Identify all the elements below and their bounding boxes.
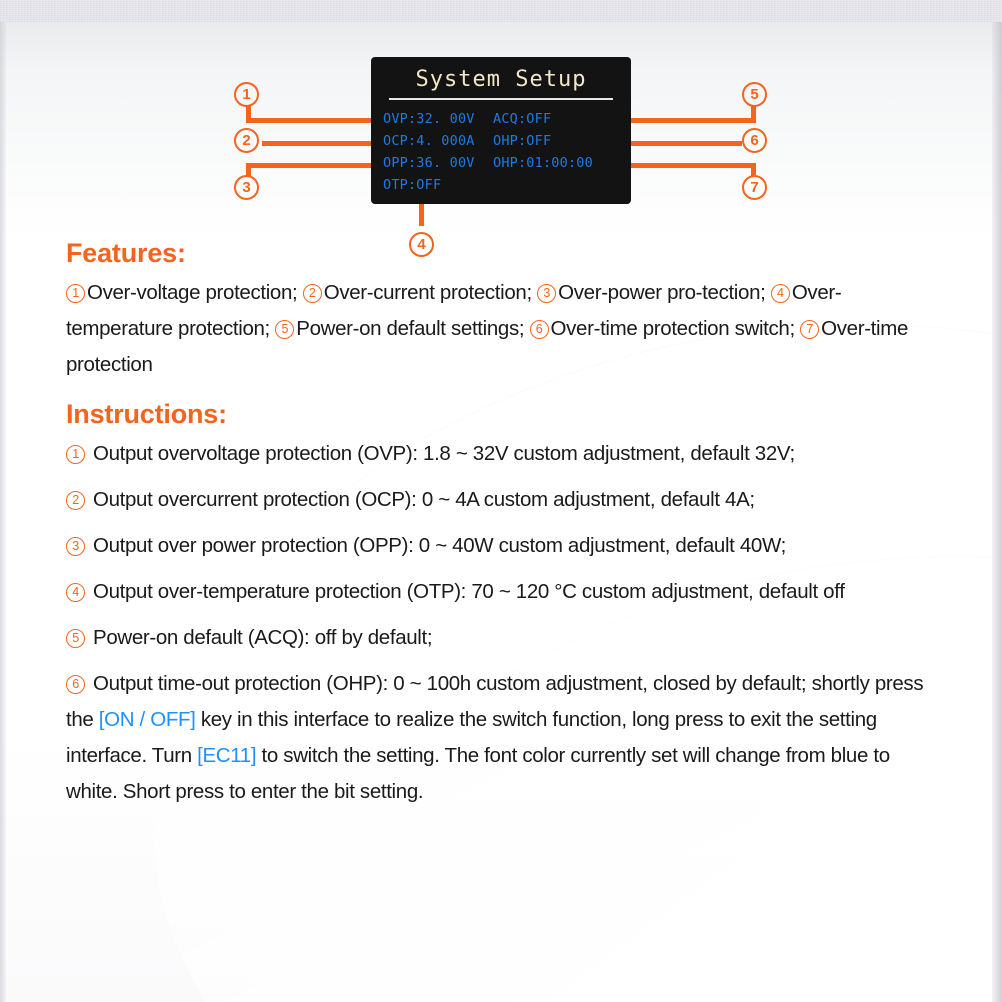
features-paragraph: 1Over-voltage protection; 2Over-current …	[66, 275, 946, 383]
instruction-text-1: Output overvoltage protection (OVP): 1.8…	[93, 442, 795, 465]
instruction-item-5: 5Power-on default (ACQ): off by default;	[66, 620, 946, 656]
instruction-marker-6: 6	[66, 675, 85, 694]
feature-marker-2: 2	[303, 284, 322, 303]
left-edge-strip	[0, 22, 6, 1002]
feature-marker-3: 3	[537, 284, 556, 303]
callout-badge-5: 5	[742, 82, 767, 107]
lcd-row: OPP:36. 00V OHP:01:00:00	[383, 152, 631, 174]
feature-text-3-cont: ection;	[708, 281, 766, 304]
instruction-item-1: 1Output overvoltage protection (OVP): 1.…	[66, 436, 946, 472]
instruction-marker-5: 5	[66, 629, 85, 648]
callout-badge-4: 4	[409, 232, 434, 257]
instruction-text-2: Output overcurrent protection (OCP): 0 ~…	[93, 488, 755, 511]
instruction-item-3: 3Output over power protection (OPP): 0 ~…	[66, 528, 946, 564]
key-on-off-label: [ON / OFF]	[99, 708, 196, 731]
feature-text-2: Over-current protection;	[324, 281, 532, 304]
lcd-value-acq[interactable]: ACQ:OFF	[493, 108, 623, 130]
lcd-value-empty	[493, 174, 623, 196]
callout-badge-2: 2	[234, 128, 259, 153]
lcd-value-ocp[interactable]: OCP:4. 000A	[383, 130, 493, 152]
instruction-text-4: Output over-temperature protection (OTP)…	[93, 580, 845, 603]
lcd-display-panel: System Setup OVP:32. 00V ACQ:OFF OCP:4. …	[371, 57, 631, 204]
top-noise-band	[0, 0, 1002, 22]
feature-marker-6: 6	[530, 320, 549, 339]
feature-marker-7: 7	[800, 320, 819, 339]
lcd-value-ohp-switch[interactable]: OHP:OFF	[493, 130, 623, 152]
lcd-value-otp[interactable]: OTP:OFF	[383, 174, 493, 196]
lcd-row: OVP:32. 00V ACQ:OFF	[383, 108, 631, 130]
page-root: System Setup OVP:32. 00V ACQ:OFF OCP:4. …	[0, 0, 1002, 1002]
lcd-title: System Setup	[371, 67, 631, 92]
instruction-marker-4: 4	[66, 583, 85, 602]
features-heading: Features:	[66, 238, 946, 269]
lcd-settings-grid: OVP:32. 00V ACQ:OFF OCP:4. 000A OHP:OFF …	[383, 108, 631, 196]
lcd-row: OCP:4. 000A OHP:OFF	[383, 130, 631, 152]
leader-line-7	[618, 163, 756, 168]
leader-line-6	[618, 141, 742, 146]
content-column: Features: 1Over-voltage protection; 2Ove…	[66, 238, 946, 820]
right-edge-strip	[992, 22, 1002, 1002]
lcd-value-ovp[interactable]: OVP:32. 00V	[383, 108, 493, 130]
feature-text-6: Over-	[551, 317, 601, 340]
callout-badge-3: 3	[234, 175, 259, 200]
instruction-marker-2: 2	[66, 491, 85, 510]
callout-badge-1: 1	[234, 82, 259, 107]
leader-line-5	[618, 118, 756, 123]
feature-marker-1: 1	[66, 284, 85, 303]
instruction-item-4: 4Output over-temperature protection (OTP…	[66, 574, 946, 610]
feature-text-1: Over-voltage protection;	[87, 281, 297, 304]
instructions-heading: Instructions:	[66, 399, 946, 430]
instruction-text-5: Power-on default (ACQ): off by default;	[93, 626, 432, 649]
lcd-title-divider	[389, 98, 613, 100]
feature-marker-5: 5	[275, 320, 294, 339]
lcd-value-opp[interactable]: OPP:36. 00V	[383, 152, 493, 174]
callout-badge-7: 7	[742, 175, 767, 200]
leader-elbow-1	[246, 106, 251, 120]
key-ec11-label: [EC11]	[197, 744, 256, 767]
instruction-item-6: 6Output time-out protection (OHP): 0 ~ 1…	[66, 666, 946, 810]
feature-text-5: Power-on default settings;	[296, 317, 524, 340]
feature-marker-4: 4	[771, 284, 790, 303]
instruction-marker-1: 1	[66, 445, 85, 464]
feature-text-3: Over-power pro-t	[558, 281, 707, 304]
instruction-marker-3: 3	[66, 537, 85, 556]
lcd-row: OTP:OFF	[383, 174, 631, 196]
lcd-value-ohp-time[interactable]: OHP:01:00:00	[493, 152, 623, 174]
instruction-text-3: Output over power protection (OPP): 0 ~ …	[93, 534, 786, 557]
instruction-item-2: 2Output overcurrent protection (OCP): 0 …	[66, 482, 946, 518]
callout-badge-6: 6	[742, 128, 767, 153]
feature-text-6-cont: time protection switch;	[600, 317, 795, 340]
leader-elbow-5	[751, 106, 756, 120]
